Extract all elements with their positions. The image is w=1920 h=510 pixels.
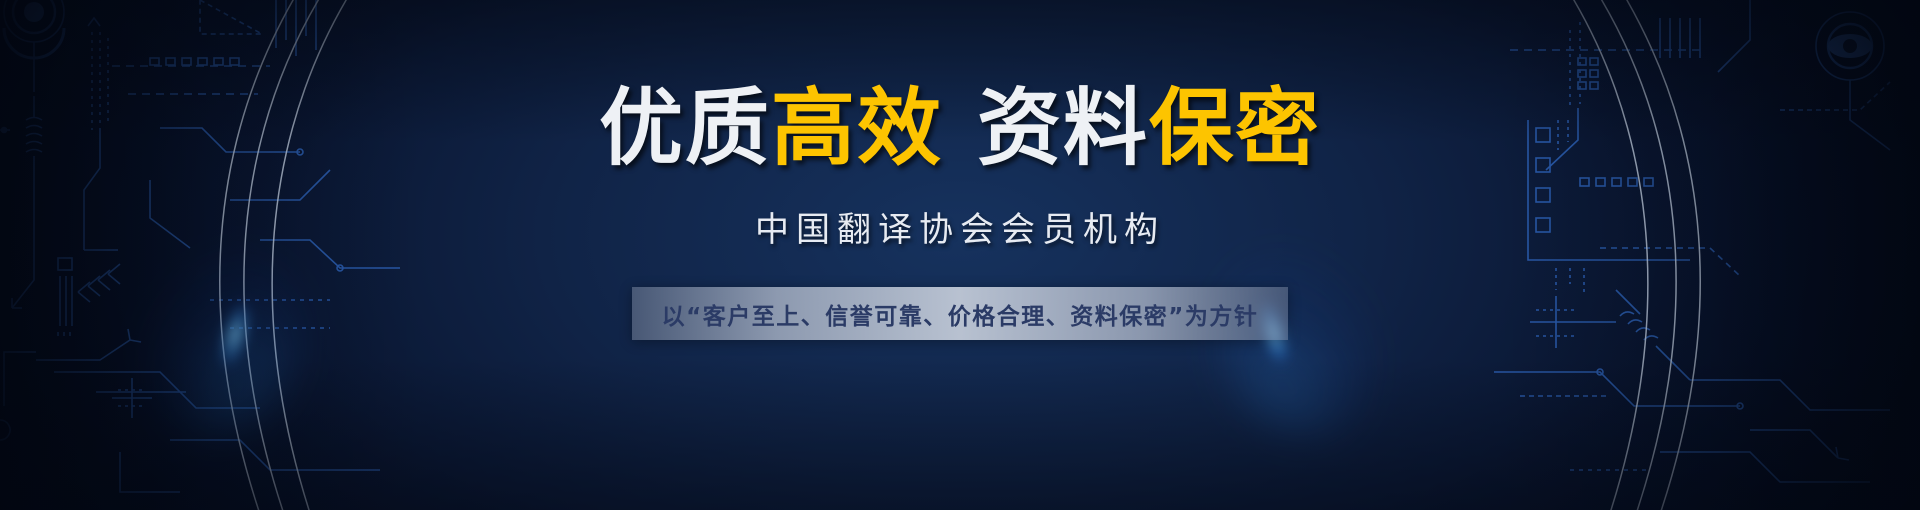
banner-subtitle: 中国翻译协会会员机构 — [755, 202, 1165, 251]
headline-segment-2: 高效 — [771, 79, 943, 177]
slogan-text: 以“客户至上、信誉可靠、价格合理、资料保密”为方针 — [662, 297, 1259, 331]
headline-segment-1: 优质 — [599, 79, 771, 177]
banner-headline: 优质高效资料保密 — [599, 86, 1321, 170]
headline-segment-3: 资料 — [977, 79, 1149, 177]
slogan-bar: 以“客户至上、信誉可靠、价格合理、资料保密”为方针 — [632, 287, 1288, 340]
hero-banner: 优质高效资料保密 中国翻译协会会员机构 以“客户至上、信誉可靠、价格合理、资料保… — [0, 0, 1920, 510]
headline-segment-4: 保密 — [1149, 79, 1321, 177]
banner-content: 优质高效资料保密 中国翻译协会会员机构 以“客户至上、信誉可靠、价格合理、资料保… — [0, 0, 1920, 510]
